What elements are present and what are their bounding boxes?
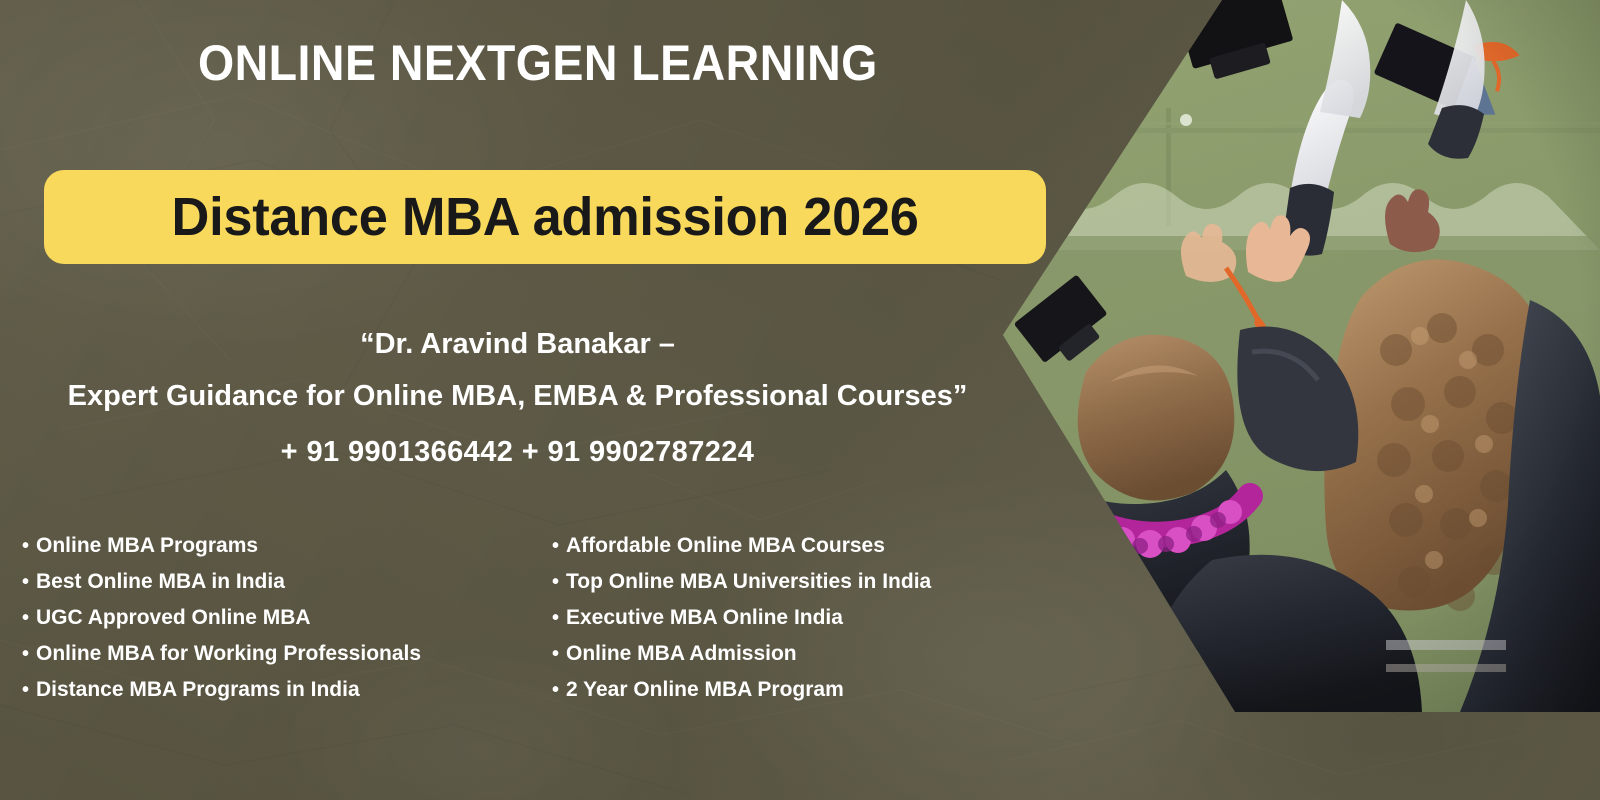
- bullet-icon: •: [552, 637, 566, 672]
- list-item-label: UGC Approved Online MBA: [36, 600, 311, 635]
- list-item: • Online MBA Admission: [552, 636, 1060, 672]
- bullet-icon: •: [22, 529, 36, 564]
- list-item: • Executive MBA Online India: [552, 600, 1060, 636]
- list-item: • Distance MBA Programs in India: [22, 672, 548, 708]
- keyword-column-right: • Affordable Online MBA Courses • Top On…: [548, 528, 1060, 708]
- bullet-icon: •: [22, 673, 36, 708]
- page-title: ONLINE NEXTGEN LEARNING: [198, 36, 878, 91]
- contact-phone-numbers[interactable]: + 91 9901366442 + 91 9902787224: [0, 426, 1035, 478]
- list-item: • Best Online MBA in India: [22, 564, 548, 600]
- highlight-banner: Distance MBA admission 2026: [44, 170, 1046, 264]
- list-item-label: Executive MBA Online India: [566, 600, 843, 635]
- keyword-lists: • Online MBA Programs • Best Online MBA …: [0, 528, 1060, 708]
- tagline-block: “Dr. Aravind Banakar – Expert Guidance f…: [0, 318, 1035, 478]
- list-item-label: Online MBA Admission: [566, 636, 797, 671]
- list-item: • Top Online MBA Universities in India: [552, 564, 1060, 600]
- list-item-label: Best Online MBA in India: [36, 564, 285, 599]
- keyword-column-left: • Online MBA Programs • Best Online MBA …: [0, 528, 548, 708]
- list-item-label: 2 Year Online MBA Program: [566, 672, 844, 707]
- graduation-photo: [990, 0, 1600, 712]
- list-item-label: Top Online MBA Universities in India: [566, 564, 931, 599]
- list-item: • Affordable Online MBA Courses: [552, 528, 1060, 564]
- promo-banner: ONLINE NEXTGEN LEARNING Distance MBA adm…: [0, 0, 1600, 800]
- highlight-banner-text: Distance MBA admission 2026: [171, 186, 918, 248]
- list-item: • Online MBA Programs: [22, 528, 548, 564]
- bullet-icon: •: [552, 601, 566, 636]
- tagline-line-2: Expert Guidance for Online MBA, EMBA & P…: [0, 370, 1035, 422]
- list-item: • UGC Approved Online MBA: [22, 600, 548, 636]
- list-item: • 2 Year Online MBA Program: [552, 672, 1060, 708]
- bullet-icon: •: [22, 637, 36, 672]
- bullet-icon: •: [552, 565, 566, 600]
- list-item-label: Online MBA Programs: [36, 528, 258, 563]
- bullet-icon: •: [22, 565, 36, 600]
- list-item-label: Affordable Online MBA Courses: [566, 528, 885, 563]
- list-item-label: Distance MBA Programs in India: [36, 672, 360, 707]
- list-item-label: Online MBA for Working Professionals: [36, 636, 421, 671]
- list-item: • Online MBA for Working Professionals: [22, 636, 548, 672]
- bullet-icon: •: [552, 529, 566, 564]
- tagline-line-1: “Dr. Aravind Banakar –: [0, 318, 1035, 370]
- bullet-icon: •: [22, 601, 36, 636]
- bullet-icon: •: [552, 673, 566, 708]
